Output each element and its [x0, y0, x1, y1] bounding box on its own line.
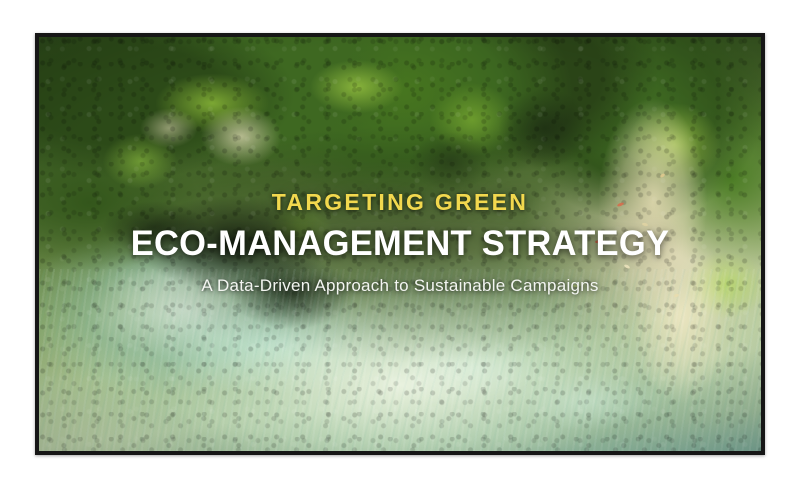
photo-boat: [659, 172, 665, 177]
subtitle-text: A Data-Driven Approach to Sustainable Ca…: [57, 276, 743, 296]
title-block: TARGETING GREEN ECO-MANAGEMENT STRATEGY …: [39, 189, 761, 296]
eyebrow-text: TARGETING GREEN: [57, 189, 743, 216]
page-title: ECO-MANAGEMENT STRATEGY: [62, 225, 738, 264]
slide-canvas: TARGETING GREEN ECO-MANAGEMENT STRATEGY …: [0, 0, 800, 488]
slide-photo-frame: TARGETING GREEN ECO-MANAGEMENT STRATEGY …: [35, 33, 765, 455]
